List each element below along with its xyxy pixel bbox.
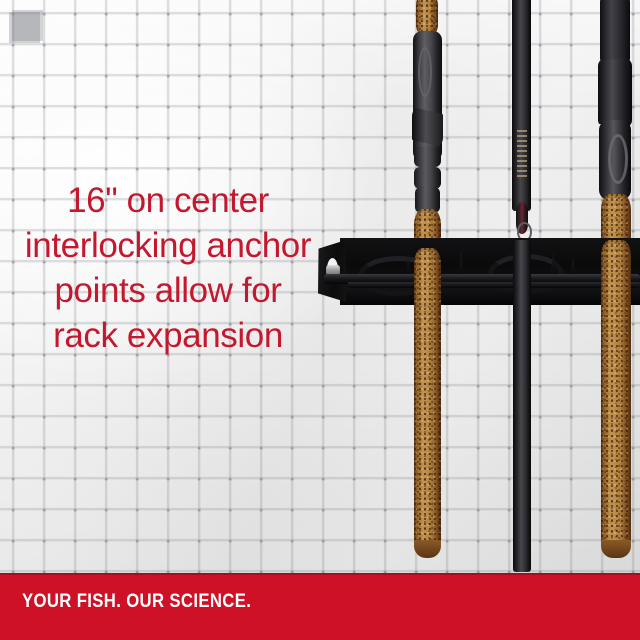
bottom-banner: YOUR FISH. OUR SCIENCE.	[0, 573, 640, 640]
rack-bottom-lip	[348, 282, 640, 288]
rod-right-reel-seat-upper	[600, 0, 630, 66]
headline-text: 16" on center interlocking anchor points…	[0, 178, 336, 358]
rod-left-cork-front-overlay	[414, 248, 441, 554]
headline-line-1: 16" on center	[0, 178, 336, 223]
rod-right-butt-cap-front	[601, 540, 631, 558]
rod-mid-blank-front-overlay	[513, 240, 531, 572]
rod-left-foregrip-cork	[416, 0, 438, 35]
brand-tagline: YOUR FISH. OUR SCIENCE.	[22, 591, 251, 613]
headline-line-4: rack expansion	[0, 313, 336, 358]
rod-rack	[318, 232, 640, 310]
headline-line-3: points allow for	[0, 268, 336, 313]
rod-left-grip-contour	[418, 47, 432, 97]
rod-right-grip-contour	[608, 134, 628, 184]
headline-line-2: interlocking anchor	[0, 223, 336, 268]
product-feature-graphic: 16" on center interlocking anchor points…	[0, 0, 640, 640]
rod-right-trigger	[598, 58, 632, 128]
rod-right-cork-front-overlay	[601, 240, 631, 556]
rod-left-lock-ring-upper	[414, 147, 441, 167]
rod-mid-blank-upper	[512, 0, 531, 211]
rod-mid-brand-print	[517, 130, 527, 178]
rod-left-lock-ring-lower	[414, 167, 441, 189]
banner-top-edge	[0, 573, 640, 575]
